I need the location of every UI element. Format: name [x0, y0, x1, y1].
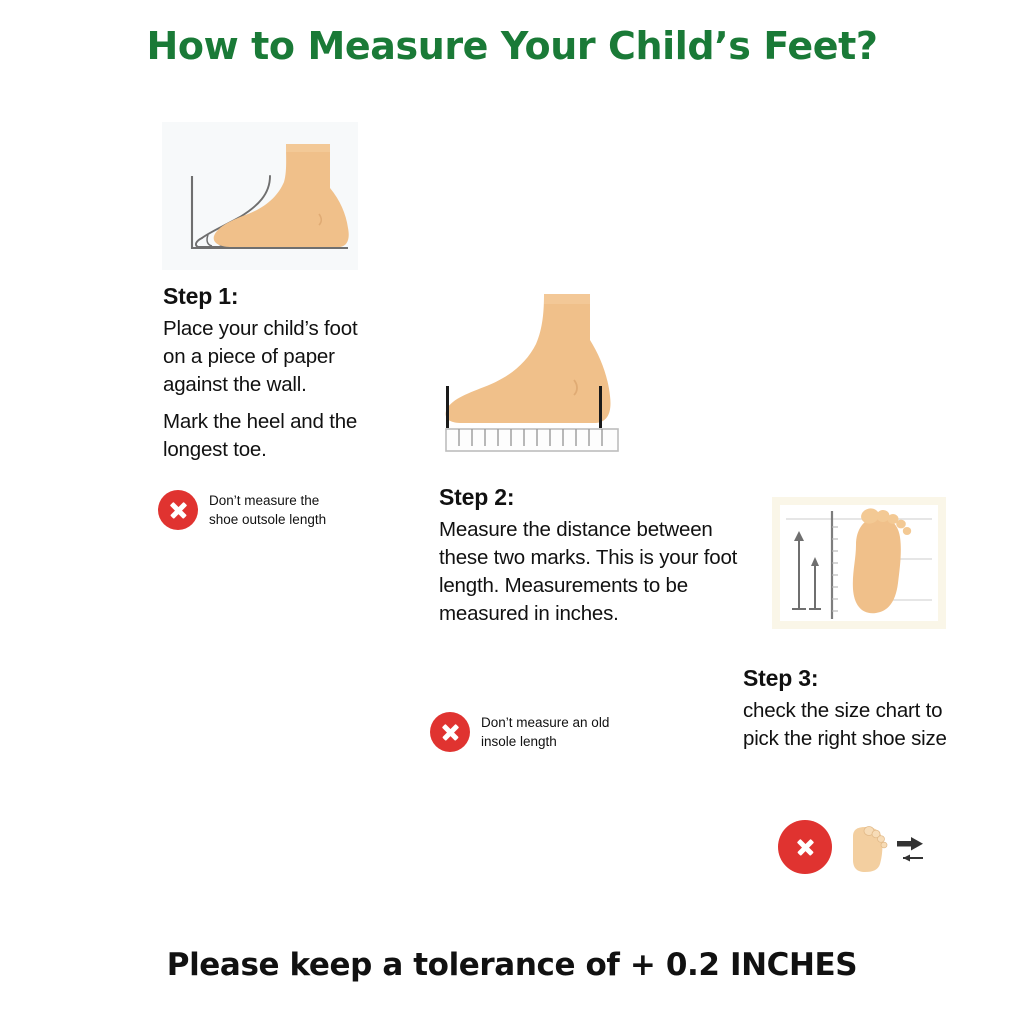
step-3-illustration [772, 497, 946, 629]
step-1-illustration [162, 122, 358, 270]
tolerance-note: Please keep a tolerance of + 0.2 INCHES [0, 947, 1024, 983]
step-3-text-block: Step 3: check the size chart to pick the… [743, 665, 973, 753]
step-1-paragraph-2: Mark the heel and the longest toe. [163, 408, 381, 464]
arrow-right-icon [897, 837, 923, 851]
red-x-circle-icon [158, 490, 198, 530]
step-2-warning: Don’t measure an old insole length [430, 712, 621, 752]
step-1-warning-text: Don’t measure the shoe outsole length [209, 490, 349, 529]
step-3-heading: Step 3: [743, 665, 973, 692]
red-x-circle-icon [430, 712, 470, 752]
foot-top-view-with-arrows [843, 820, 931, 874]
arrow-left-icon [903, 855, 923, 862]
step-2-heading: Step 2: [439, 484, 739, 511]
step-2-paragraph-1: Measure the distance between these two m… [439, 516, 739, 628]
step-1-text-block: Step 1: Place your child’s foot on a pie… [163, 283, 381, 464]
red-x-circle-icon [778, 820, 832, 874]
step-3-warning [778, 820, 931, 874]
step-2-illustration [438, 288, 634, 456]
step-2-warning-text: Don’t measure an old insole length [481, 712, 621, 751]
step-1-heading: Step 1: [163, 283, 381, 310]
step-3-paragraph-1: check the size chart to pick the right s… [743, 697, 973, 753]
step-2-text-block: Step 2: Measure the distance between the… [439, 484, 739, 628]
step-1-paragraph-1: Place your child’s foot on a piece of pa… [163, 315, 381, 399]
step-1-warning: Don’t measure the shoe outsole length [158, 490, 349, 530]
page-title: How to Measure Your Child’s Feet? [0, 24, 1024, 68]
